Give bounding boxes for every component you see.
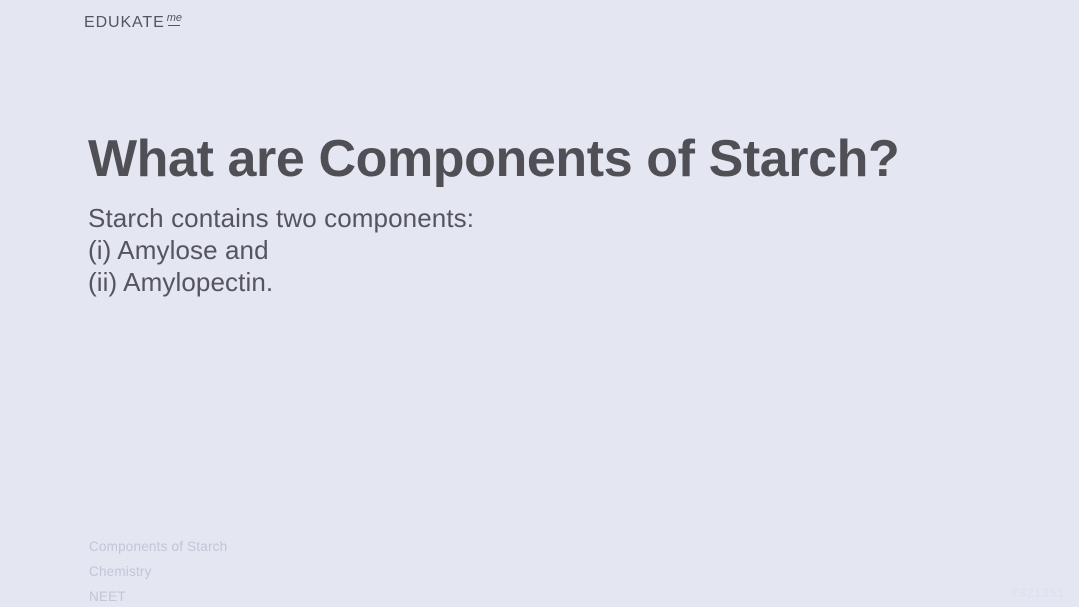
- body-line-2: (i) Amylose and: [88, 234, 474, 266]
- watermark-id: 7321351: [1011, 586, 1065, 600]
- slide-canvas: EDUKATE me What are Components of Starch…: [0, 0, 1079, 607]
- footer-topic: Components of Starch: [89, 534, 227, 559]
- body-line-3: (ii) Amylopectin.: [88, 266, 474, 298]
- brand-underline-rule: [168, 25, 180, 26]
- footer-exam: NEET: [89, 584, 227, 607]
- footer-subject: Chemistry: [89, 559, 227, 584]
- footer-metadata: Components of Starch Chemistry NEET: [89, 534, 227, 607]
- slide-body: Starch contains two components: (i) Amyl…: [88, 202, 474, 298]
- slide-title: What are Components of Starch?: [88, 131, 899, 188]
- brand-suffix-text: me: [167, 12, 182, 24]
- body-line-1: Starch contains two components:: [88, 202, 474, 234]
- brand-logo: EDUKATE me: [84, 15, 182, 31]
- brand-name: EDUKATE: [84, 15, 165, 31]
- brand-suffix: me: [167, 13, 182, 24]
